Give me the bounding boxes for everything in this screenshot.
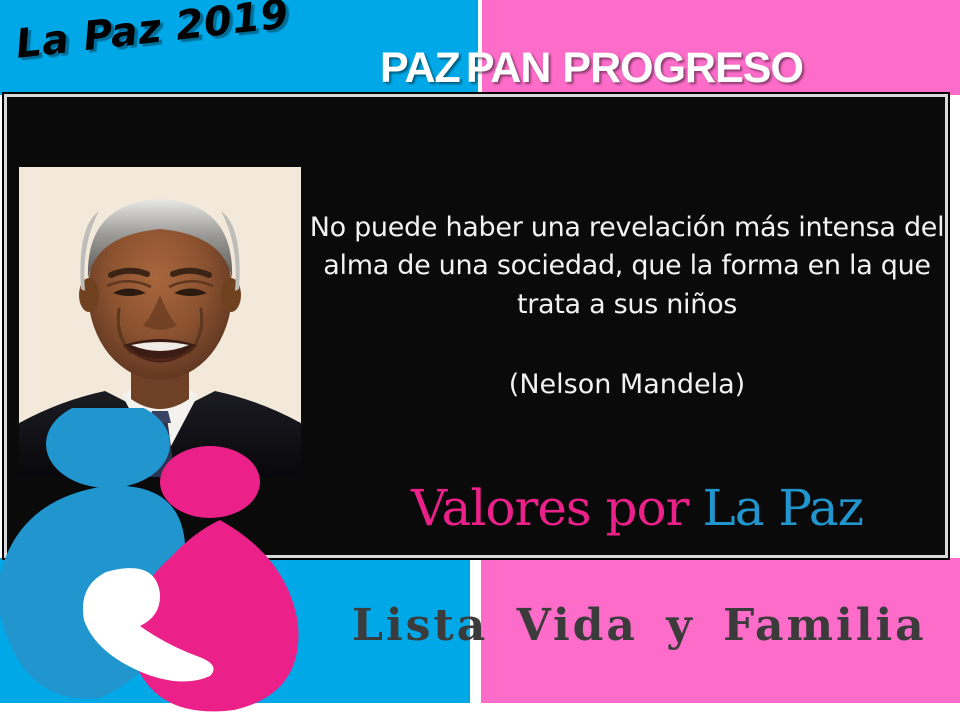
slogan-word-pan: PAN bbox=[466, 44, 551, 92]
slogan-word-paz: PAZ bbox=[380, 44, 460, 92]
campaign-slogan: PAZPANPROGRESO bbox=[380, 44, 900, 93]
quote-line: alma de una sociedad, que la forma en la… bbox=[307, 247, 947, 285]
quote-line: No puede haber una revelación más intens… bbox=[307, 209, 947, 247]
mandela-quote: No puede haber una revelación más intens… bbox=[307, 209, 947, 324]
logo-pink-head bbox=[160, 446, 260, 518]
brand-logotype: Valores porLa Paz bbox=[327, 479, 947, 537]
list-name-label: Lista Vida y Familia bbox=[352, 600, 927, 651]
slogan-word-progreso: PROGRESO bbox=[562, 44, 803, 92]
logotype-la-paz: La Paz bbox=[703, 479, 863, 537]
logotype-valores-por: Valores por bbox=[411, 479, 688, 537]
poster-canvas: La Paz 2019 PAZPANPROGRESO bbox=[0, 0, 960, 720]
logo-blue-head bbox=[46, 408, 170, 488]
family-logo-icon bbox=[0, 408, 318, 720]
quote-author: (Nelson Mandela) bbox=[307, 369, 947, 400]
quote-line: trata a sus niños bbox=[307, 286, 947, 324]
